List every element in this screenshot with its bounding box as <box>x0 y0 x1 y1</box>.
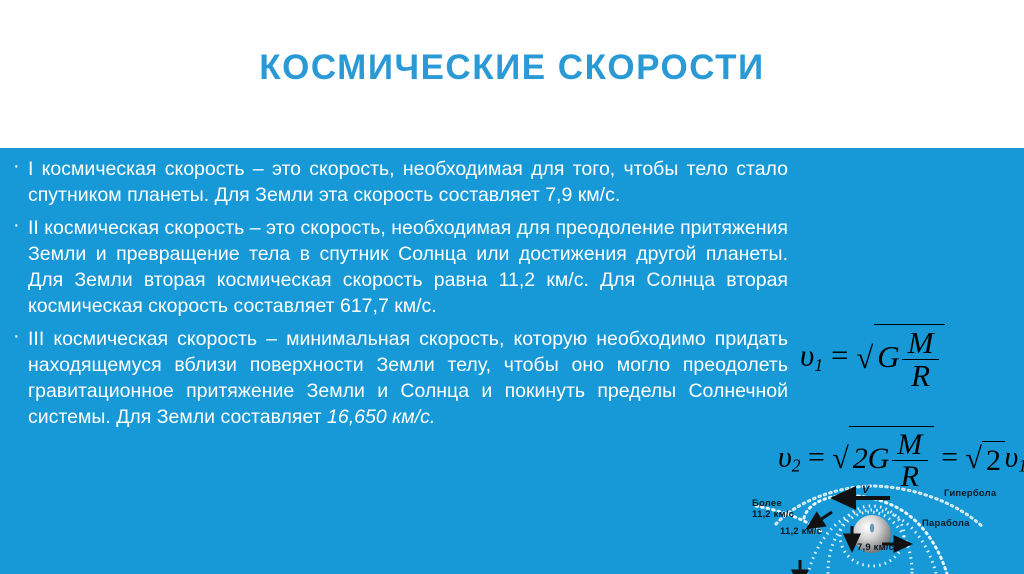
bullet-list: I космическая скорость – это скорость, н… <box>6 156 788 437</box>
radical-sign-icon: √ <box>832 442 848 476</box>
diagram-label-parabola: Парабола <box>922 518 970 529</box>
formula-v2-rhs-radicand: 2 <box>982 441 1004 478</box>
formula-v2-lhs-sub: 2 <box>792 456 801 476</box>
formula-v2-rhs-sub: 1 <box>1018 456 1024 476</box>
diagram-label-more-than-11-2: Более 11,2 км/с <box>752 498 794 520</box>
slide-header: КОСМИЧЕСКИЕ СКОРОСТИ <box>0 0 1024 148</box>
formula-v2-equals-2: = <box>941 440 958 473</box>
list-item-second-cosmic-velocity: II космическая скорость – это скорость, … <box>6 215 788 319</box>
formula-v2-rhs-var: υ <box>1005 440 1019 473</box>
radical-sign-icon: √ <box>856 340 873 376</box>
label-line-1: Более <box>752 498 794 509</box>
diagram-label-hyperbola: Гипербола <box>944 488 996 499</box>
list-item-first-cosmic-velocity: I космическая скорость – это скорость, н… <box>6 156 788 208</box>
radical-sign-icon: √ <box>966 442 982 476</box>
diagram-label-11-2-kms: 11,2 км/с <box>780 526 822 537</box>
formula-v1-denominator: R <box>902 359 939 393</box>
page-title: КОСМИЧЕСКИЕ СКОРОСТИ <box>0 48 1024 88</box>
formula-v1-numerator: M <box>902 327 939 360</box>
second-cosmic-velocity-formula: υ2 = √ 2GMR = √ 2 υ1 <box>778 426 1024 493</box>
formula-v1-radicand: GMR <box>874 324 946 393</box>
first-cosmic-velocity-formula: υ1 = √ GMR <box>800 324 945 393</box>
formula-v2-coeff: 2G <box>853 442 890 475</box>
formula-v2-radicand: 2GMR <box>849 426 933 493</box>
formula-v2-rhs-radical: √ 2 <box>966 441 1005 478</box>
formula-v1-radical: √ GMR <box>856 324 945 393</box>
formula-v2-equals: = <box>808 440 825 473</box>
formula-v1-lhs: υ <box>800 338 814 373</box>
formula-v1-fraction: MR <box>902 327 939 393</box>
earth-surface-mark <box>870 524 874 533</box>
diagram-label-7-9-kms: 7,9 км/с <box>857 542 894 553</box>
formula-v1-lhs-sub: 1 <box>814 355 823 375</box>
diagram-label-velocity-v: V <box>862 484 870 496</box>
formula-v2-numerator: M <box>892 429 928 461</box>
formula-v1-equals: = <box>831 338 848 373</box>
orbital-trajectories-diagram: Более 11,2 км/с 11,2 км/с 7,9 км/с Более… <box>744 484 1024 574</box>
bullet-text-1: I космическая скорость – это скорость, н… <box>28 158 788 206</box>
list-item-third-cosmic-velocity: III космическая скорость – минимальная с… <box>6 326 788 430</box>
presentation-slide: КОСМИЧЕСКИЕ СКОРОСТИ I космическая скоро… <box>0 0 1024 574</box>
bullet-text-3-value: 16,650 км/с. <box>327 406 435 428</box>
label-line-2: 11,2 км/с <box>752 509 794 520</box>
formula-v2-radical: √ 2GMR <box>832 426 933 493</box>
formula-v2-lhs: υ <box>778 440 792 473</box>
formula-v1-coeff: G <box>877 339 899 374</box>
bullet-text-2: II космическая скорость – это скорость, … <box>28 217 788 317</box>
slide-body-panel: I космическая скорость – это скорость, н… <box>0 148 1024 574</box>
